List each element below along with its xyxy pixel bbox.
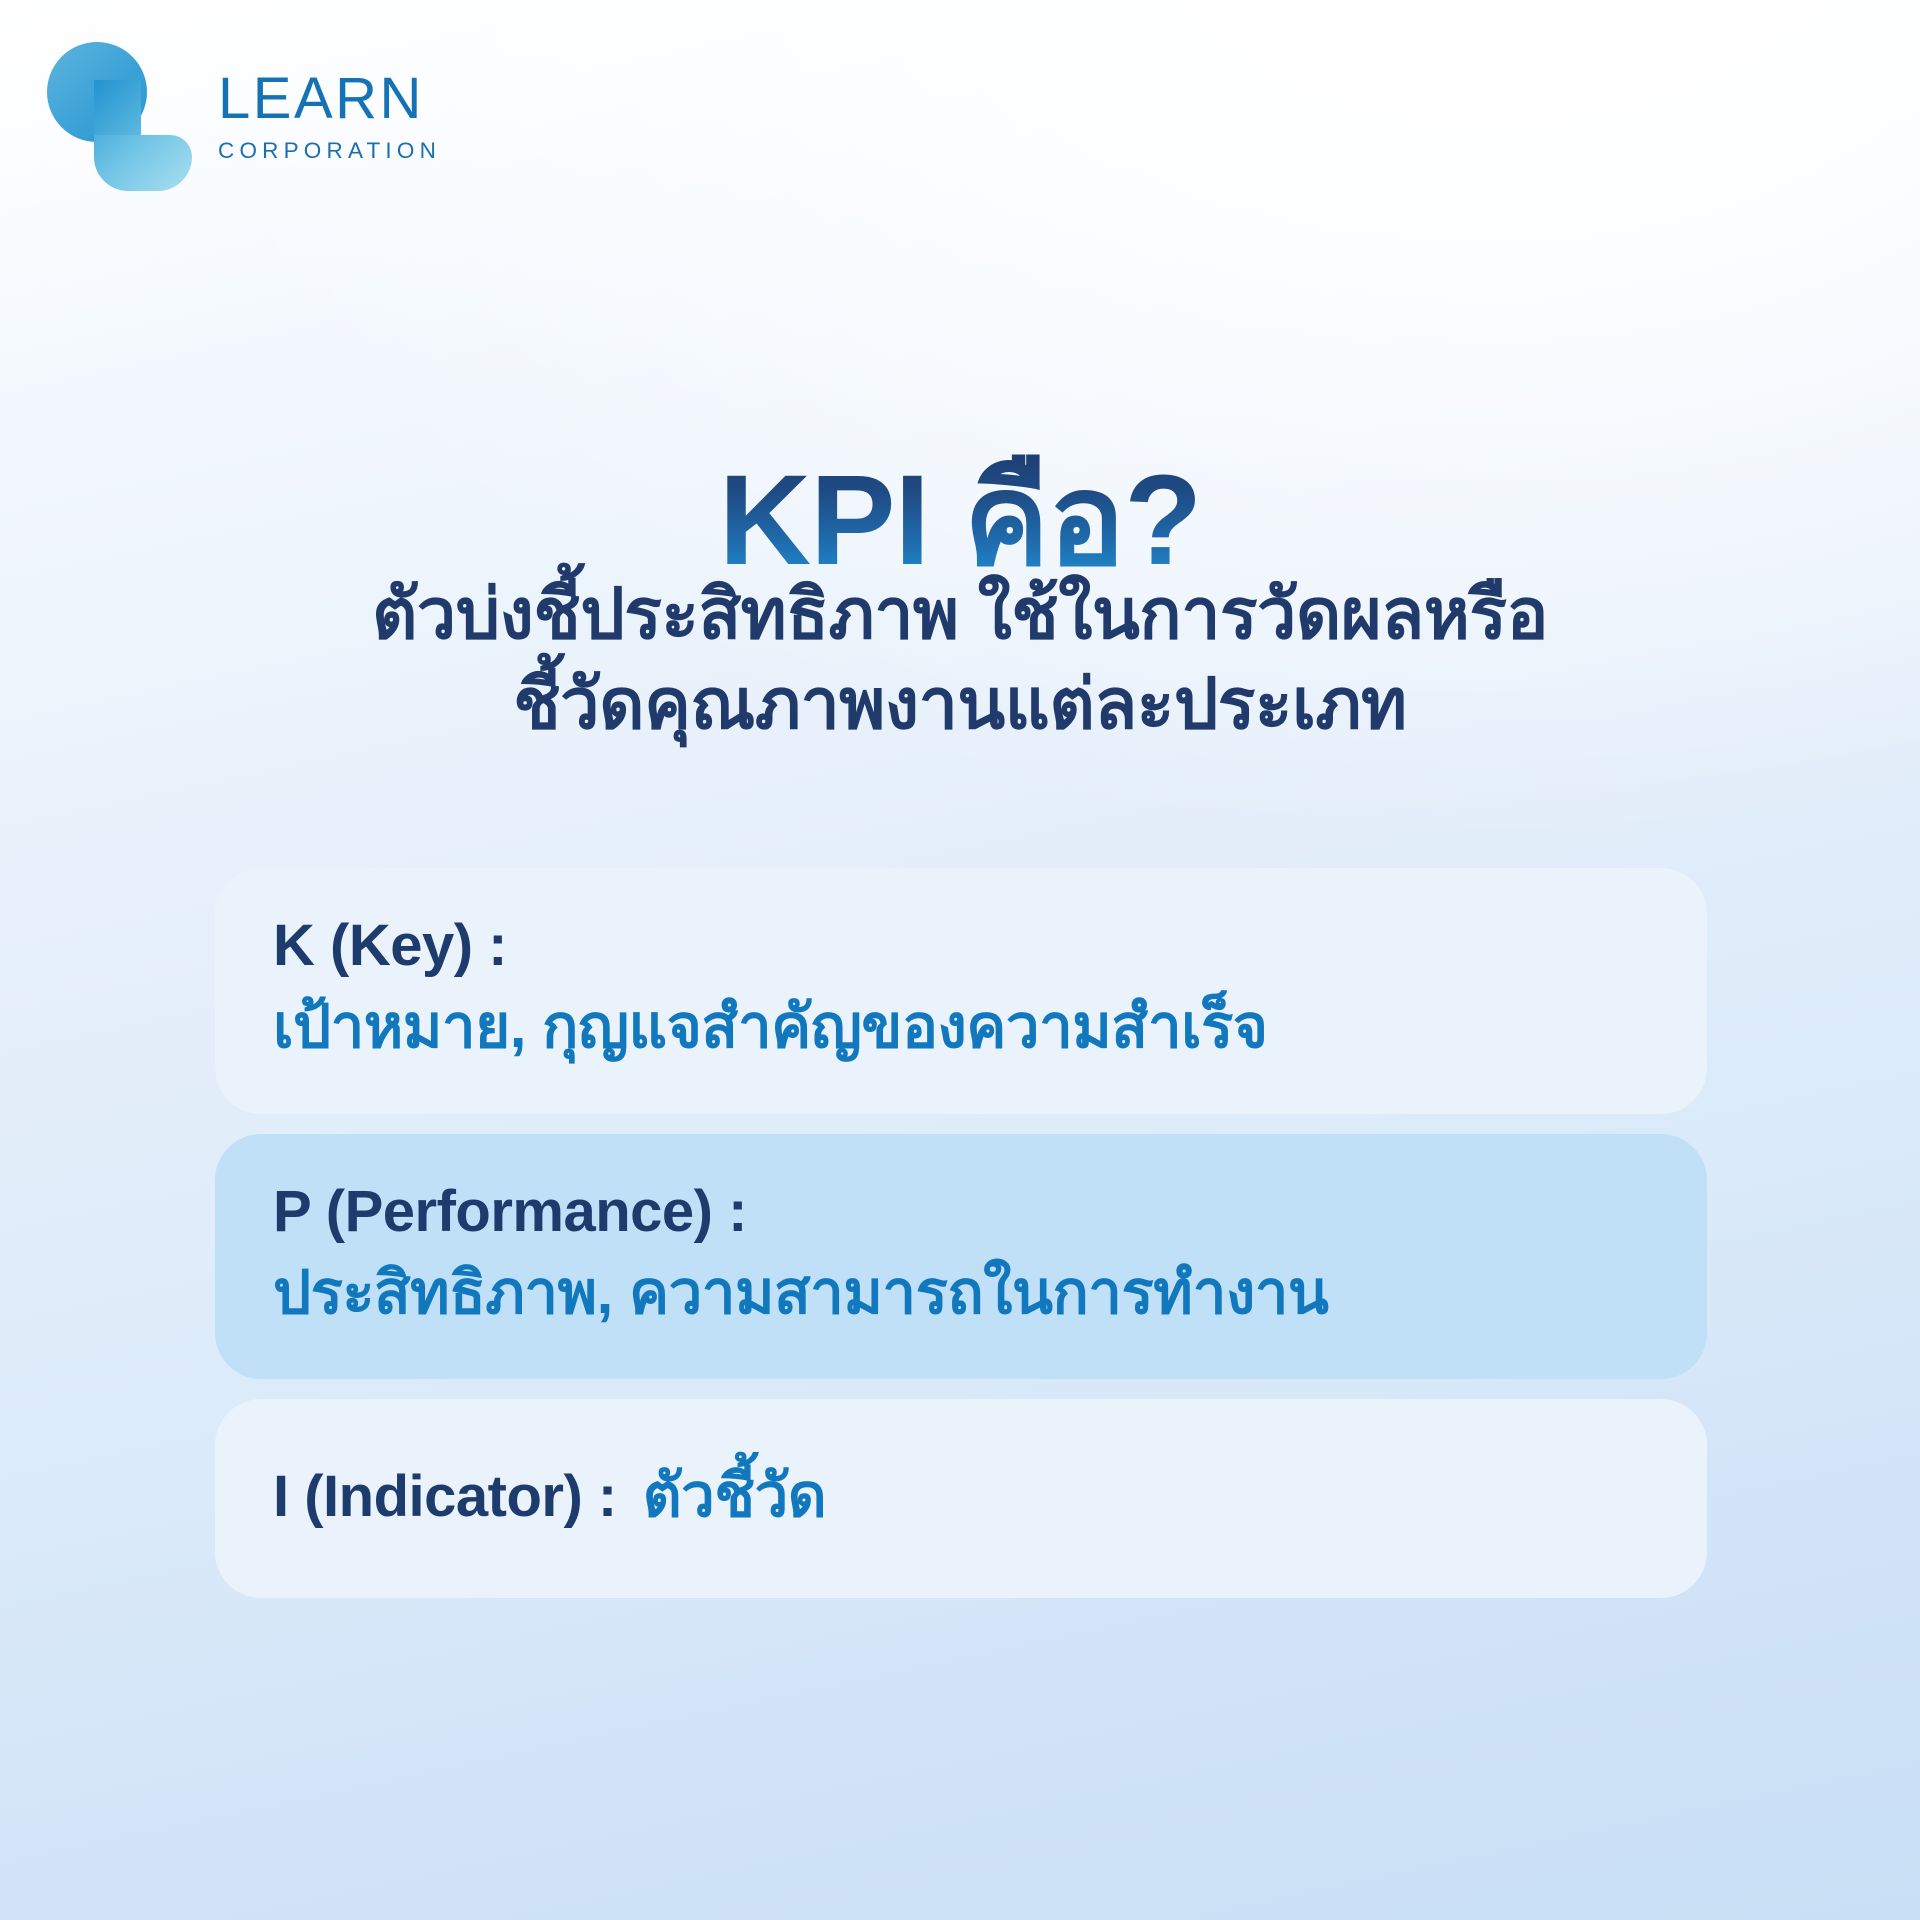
page-subtitle: ตัวบ่งชี้ประสิทธิภาพ ใช้ในการวัดผลหรือ ช… [0, 570, 1920, 749]
card-title-indicator: I (Indicator) : [273, 1463, 617, 1531]
card-title-key: K (Key) : [273, 912, 1649, 980]
definition-card-list: K (Key) : เป้าหมาย, กุญแจสำคัญของความสำเ… [215, 868, 1707, 1618]
page-title: KPI คือ? [0, 454, 1920, 588]
definition-card-indicator: I (Indicator) : ตัวชี้วัด [215, 1399, 1707, 1598]
brand-tagline: CORPORATION [218, 140, 441, 163]
subtitle-line-2: ชี้วัดคุณภาพงานแต่ละประเภท [0, 660, 1920, 750]
brand-wordmark: LEARN CORPORATION [218, 64, 441, 163]
subtitle-line-1: ตัวบ่งชี้ประสิทธิภาพ ใช้ในการวัดผลหรือ [372, 575, 1548, 653]
definition-card-performance: P (Performance) : ประสิทธิภาพ, ความสามาร… [215, 1134, 1707, 1380]
brand-name: LEARN [218, 70, 441, 128]
brand-logo[interactable]: LEARN CORPORATION [40, 36, 441, 191]
card-title-performance: P (Performance) : [273, 1178, 1649, 1246]
learn-logo-icon [40, 36, 192, 191]
card-description-indicator: ตัวชี้วัด [643, 1459, 827, 1532]
card-description-performance: ประสิทธิภาพ, ความสามารถในการทำงาน [273, 1256, 1649, 1329]
poster-canvas: LEARN CORPORATION KPI คือ? ตัวบ่งชี้ประส… [0, 0, 1920, 1920]
definition-card-key: K (Key) : เป้าหมาย, กุญแจสำคัญของความสำเ… [215, 868, 1707, 1114]
card-description-key: เป้าหมาย, กุญแจสำคัญของความสำเร็จ [273, 990, 1649, 1063]
